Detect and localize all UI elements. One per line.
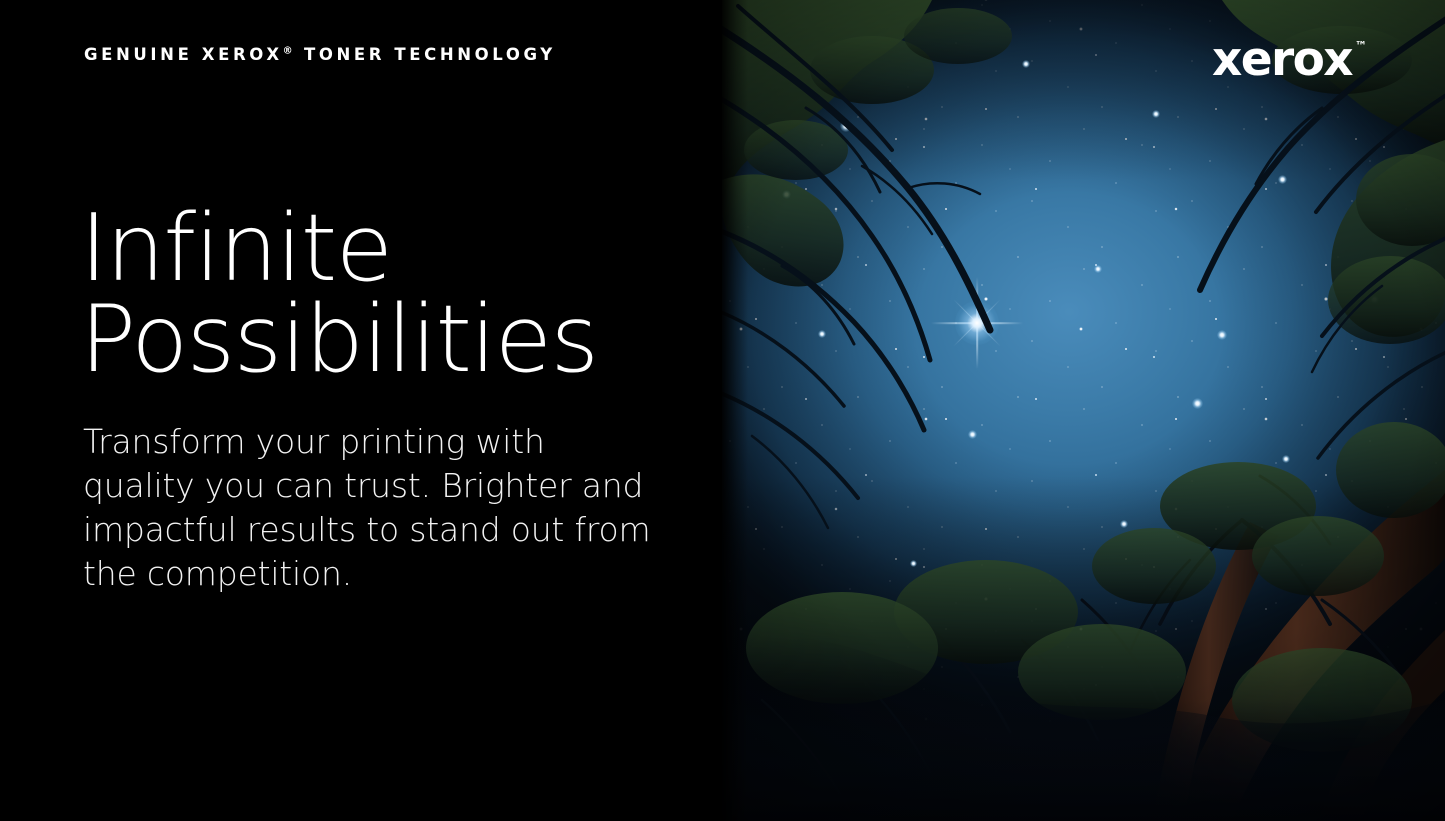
eyebrow-text-after: TONER TECHNOLOGY <box>304 45 556 64</box>
headline-line-2: Possibilities <box>80 294 597 385</box>
headline-line-1: Infinite <box>80 203 597 294</box>
registered-trademark-icon: ® <box>283 46 295 57</box>
photo-stage <box>722 0 1445 821</box>
left-text-panel: GENUINE XEROX® TONER TECHNOLOGY Infinite… <box>0 0 722 821</box>
tree-silhouette-layer <box>722 0 1445 821</box>
xerox-wordmark: xerox <box>1212 36 1352 83</box>
bottom-shadow-band <box>722 700 1445 821</box>
xerox-marketing-banner: GENUINE XEROX® TONER TECHNOLOGY Infinite… <box>0 0 1445 821</box>
body-line-3: impactful results to stand out from <box>83 508 650 552</box>
night-sky-photo: xerox™ <box>722 0 1445 821</box>
body-line-2: quality you can trust. Brighter and <box>83 464 650 508</box>
body-line-4: the competition. <box>83 552 650 596</box>
eyebrow-kicker: GENUINE XEROX® TONER TECHNOLOGY <box>84 45 556 65</box>
body-line-1: Transform your printing with <box>83 420 650 464</box>
xerox-logo: xerox™ <box>1212 36 1367 83</box>
eyebrow-text-before: GENUINE XEROX <box>84 45 283 64</box>
trademark-icon: ™ <box>1355 40 1367 52</box>
body-copy: Transform your printing with quality you… <box>83 420 650 596</box>
page-title: Infinite Possibilities <box>80 203 597 385</box>
